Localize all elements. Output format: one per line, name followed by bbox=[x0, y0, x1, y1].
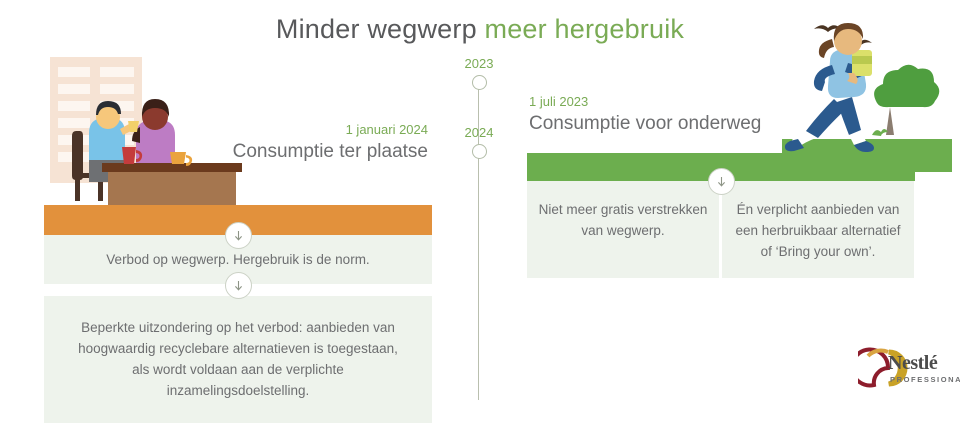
right-panel-box-1-text: Niet meer gratis verstrekken van wegwerp… bbox=[539, 202, 708, 238]
timeline-year-2024: 2024 bbox=[455, 125, 503, 140]
timeline-marker-2024 bbox=[472, 144, 487, 159]
right-panel-box-row: Niet meer gratis verstrekken van wegwerp… bbox=[527, 181, 915, 278]
left-panel-box-2: Beperkte uitzondering op het verbod: aan… bbox=[44, 296, 432, 423]
left-panel-date: 1 januari 2024 bbox=[128, 121, 428, 139]
timeline-year-2023: 2023 bbox=[455, 56, 503, 71]
right-panel-heading: Consumptie voor onderweg bbox=[529, 111, 819, 137]
timeline-marker-2023 bbox=[472, 75, 487, 90]
right-panel-header: 1 juli 2023 Consumptie voor onderweg bbox=[527, 93, 819, 137]
right-panel-box-2-text: Én verplicht aanbieden van een herbruikb… bbox=[735, 202, 900, 259]
panel-consumptie-voor-onderweg: 1 juli 2023 Consumptie voor onderweg Nie… bbox=[527, 85, 915, 278]
logo-brand-text: Nestlé bbox=[888, 352, 937, 375]
left-panel-box-2-text: Beperkte uitzondering op het verbod: aan… bbox=[78, 320, 398, 398]
nestle-professional-logo: Nestlé PROFESSIONAL bbox=[858, 346, 954, 392]
right-panel-box-2: Én verplicht aanbieden van een herbruikb… bbox=[722, 181, 914, 278]
logo-sub-text: PROFESSIONAL bbox=[890, 375, 960, 384]
infographic-canvas: Minder wegwerp meer hergebruik 2023 2024 bbox=[0, 0, 960, 400]
left-panel-box-1-text: Verbod op wegwerp. Hergebruik is de norm… bbox=[106, 252, 369, 267]
arrow-down-icon bbox=[225, 222, 252, 249]
right-panel-box-1: Niet meer gratis verstrekken van wegwerp… bbox=[527, 181, 719, 278]
title-part-dark: Minder wegwerp bbox=[276, 14, 477, 44]
left-panel-header: 1 januari 2024 Consumptie ter plaatse bbox=[128, 121, 432, 165]
panel-consumptie-ter-plaatse: 1 januari 2024 Consumptie ter plaatse Ve… bbox=[44, 55, 432, 423]
title-part-green: meer hergebruik bbox=[477, 14, 684, 44]
timeline-axis: 2023 2024 bbox=[455, 50, 503, 400]
arrow-down-icon bbox=[708, 168, 735, 195]
runner-with-reusable-cup-illustration bbox=[782, 7, 952, 172]
arrow-down-icon bbox=[225, 272, 252, 299]
left-panel-heading: Consumptie ter plaatse bbox=[128, 139, 428, 165]
right-panel-date: 1 juli 2023 bbox=[529, 93, 819, 111]
